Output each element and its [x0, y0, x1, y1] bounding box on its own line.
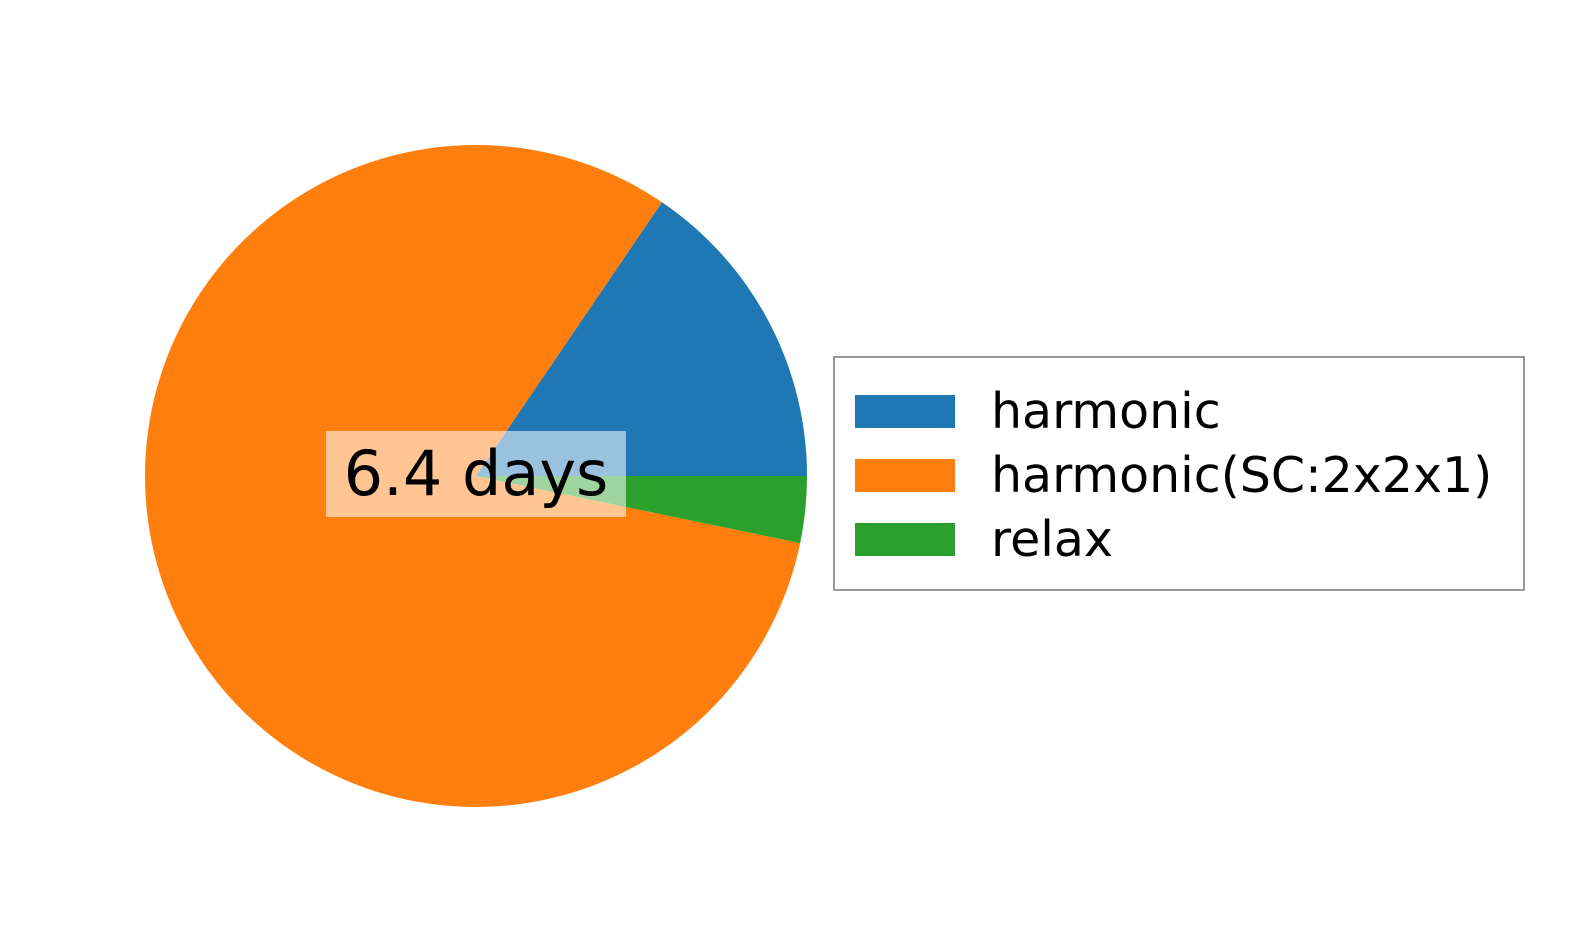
legend-swatch-relax	[855, 523, 955, 556]
pie-center-value-label: 6.4 days	[326, 431, 626, 517]
legend-label-relax: relax	[991, 515, 1113, 564]
legend-item-harmonic-sc-2x2x1[interactable]: harmonic(SC:2x2x1)	[855, 443, 1523, 507]
legend-label-harmonic: harmonic	[991, 387, 1221, 436]
pie-chart-figure: 6.4 days harmonic harmonic(SC:2x2x1) rel…	[0, 0, 1584, 951]
legend: harmonic harmonic(SC:2x2x1) relax	[833, 356, 1525, 591]
legend-item-harmonic[interactable]: harmonic	[855, 379, 1523, 443]
legend-swatch-harmonic	[855, 395, 955, 428]
pie-center-value-text: 6.4 days	[344, 443, 609, 505]
legend-label-harmonic-sc-2x2x1: harmonic(SC:2x2x1)	[991, 451, 1492, 500]
legend-item-relax[interactable]: relax	[855, 507, 1523, 571]
legend-swatch-harmonic-sc-2x2x1	[855, 459, 955, 492]
